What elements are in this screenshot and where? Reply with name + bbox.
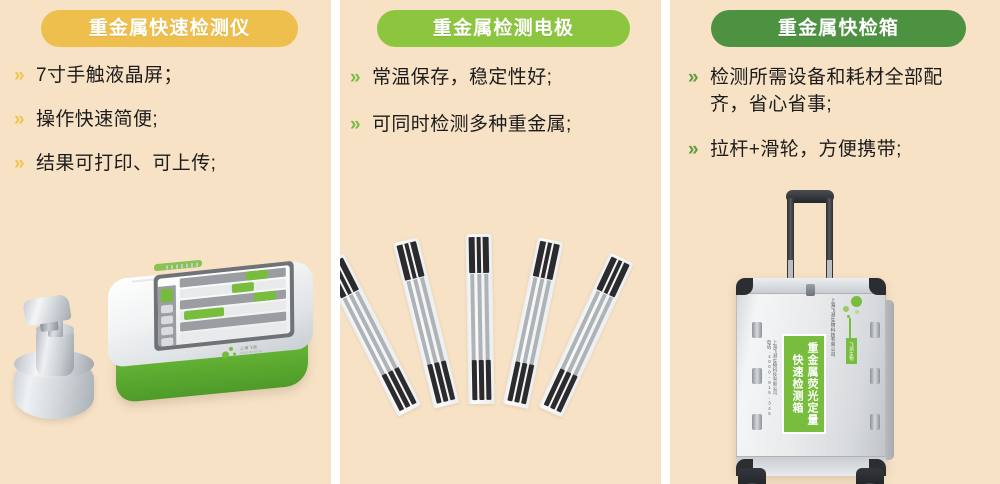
latch-icon: [752, 368, 762, 384]
pipette-stand-graphic: [10, 295, 100, 435]
logo-text-line2: FEICE BIOTECH: [240, 350, 263, 355]
brand-text: 上海飞测生物科技有限公司: [830, 298, 836, 357]
brand-stem-icon: [849, 318, 851, 340]
screen-sidebar-active-icon: [161, 288, 173, 302]
case-product-label-text: 重金属荧光定量 快速检测箱: [789, 342, 819, 426]
strip-track: [349, 294, 393, 374]
lock-icon: [806, 284, 815, 296]
logo-dot: [229, 347, 233, 351]
screen-sidebar-icon: [161, 326, 173, 335]
logo-dot: [222, 351, 229, 359]
panel-rapid-test-case: 重金属快检箱 » 检测所需设备和耗材全部配齐，省心省事; » 拉杆+滑轮，方便携…: [670, 0, 1000, 484]
strip-contact: [486, 360, 492, 400]
screen-sidebar-icon: [161, 315, 173, 324]
case-company-text-value: 上海飞测生物科技有限公司 电话：4000-915-345: [766, 340, 778, 416]
screen-sidebar-icon: [161, 337, 173, 346]
strip-track: [484, 274, 490, 362]
analyzer-touch-screen: [158, 265, 291, 347]
case-product-label: 重金属荧光定量 快速检测箱: [782, 334, 826, 434]
latch-icon: [870, 414, 880, 430]
brand-dot-icon: [855, 310, 859, 314]
logo-dot: [233, 352, 236, 355]
wheel-icon: [738, 468, 766, 484]
latch-icon: [752, 414, 762, 430]
case-brand-mark: 上海飞测生物科技有限公司 飞测生物: [830, 294, 872, 366]
corner-guard-icon: [869, 278, 886, 295]
product-image-trolley-case: 上海飞测生物科技有限公司 电话：4000-915-345 重金属荧光定量 快速检…: [670, 0, 1000, 484]
strip-electrode-pad: [469, 237, 490, 273]
product-image-rapid-analyzer: 上海飞测 FEICE BIOTECH: [0, 0, 331, 484]
panel-divider: [331, 0, 340, 484]
latch-icon: [870, 368, 880, 384]
strip-contact: [472, 360, 478, 400]
wheel-icon: [856, 468, 884, 484]
aluminum-trolley-case-graphic: 上海飞测生物科技有限公司 电话：4000-915-345 重金属荧光定量 快速检…: [722, 190, 947, 484]
stand-arm: [22, 294, 72, 327]
strip-track: [470, 274, 476, 362]
benchtop-analyzer-graphic: 上海飞测 FEICE BIOTECH: [108, 262, 313, 412]
screen-button: [254, 291, 276, 302]
strip-contact: [479, 360, 485, 400]
product-feature-board: 重金属快速检测仪 » 7寸手触液晶屏； » 操作快速简便; » 结果可打印、可上…: [0, 0, 1000, 484]
screen-sidebar: [158, 285, 177, 347]
brand-tag: 飞测生物: [846, 338, 857, 364]
strip-track: [566, 293, 607, 374]
product-image-electrode-strips: [340, 0, 661, 484]
electrode-strip: [466, 234, 495, 404]
latch-icon: [752, 322, 762, 338]
panel-detection-electrode: 重金属检测电极 » 常温保存，稳定性好; » 可同时检测多种重金属;: [340, 0, 661, 484]
brand-dot-icon: [851, 296, 862, 307]
screen-button: [246, 269, 268, 280]
case-company-text: 上海飞测生物科技有限公司 电话：4000-915-345: [766, 340, 780, 432]
screen-sidebar-icon: [161, 304, 173, 313]
panel-rapid-detector: 重金属快速检测仪 » 7寸手触液晶屏； » 操作快速简便; » 结果可打印、可上…: [0, 0, 331, 484]
screen-button: [232, 282, 254, 293]
brand-dot-icon: [843, 306, 849, 312]
brand-tag-text: 飞测生物: [849, 342, 855, 361]
strip-track: [477, 274, 483, 362]
panel-divider: [661, 0, 670, 484]
